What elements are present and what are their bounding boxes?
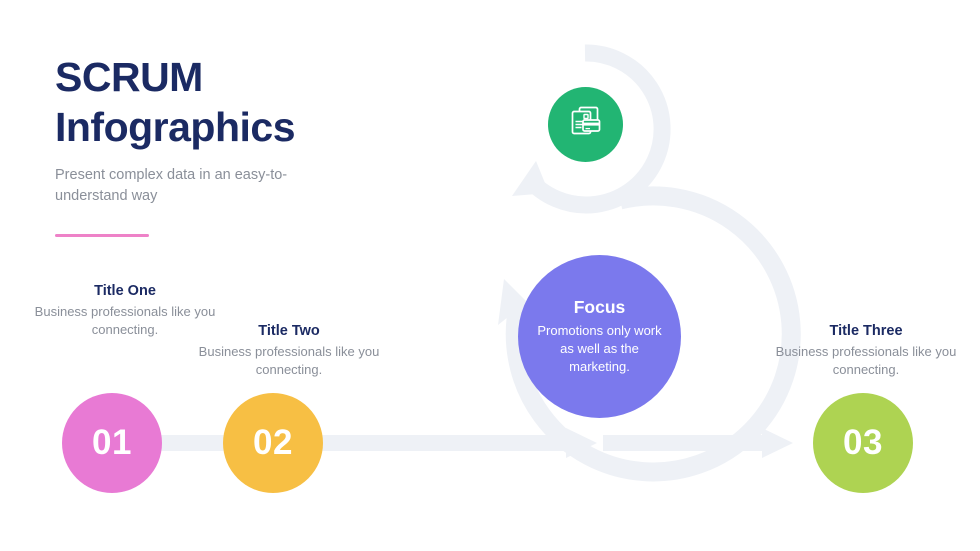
step-description-2: Business professionals like you connecti… — [192, 343, 386, 378]
focus-body: Promotions only work as well as the mark… — [534, 322, 665, 376]
slide-canvas: SCRUM Infographics Present complex data … — [0, 0, 980, 551]
icon-circle-top — [548, 87, 623, 162]
step-title-1: Title One — [30, 283, 220, 299]
step-number-circle-2[interactable]: 02 — [223, 393, 323, 493]
accent-underline — [55, 234, 149, 237]
step-text-2: Title Two Business professionals like yo… — [192, 323, 386, 378]
step-number-label-3: 03 — [843, 423, 883, 463]
step-description-3: Business professionals like you connecti… — [768, 343, 964, 378]
step-number-circle-3[interactable]: 03 — [813, 393, 913, 493]
step-number-circle-1[interactable]: 01 — [62, 393, 162, 493]
focus-circle: Focus Promotions only work as well as th… — [518, 255, 681, 418]
page-title: SCRUM Infographics — [55, 52, 385, 152]
step-number-label-1: 01 — [92, 423, 132, 463]
page-subtitle: Present complex data in an easy-to-under… — [55, 165, 305, 206]
arrow-02-to-03b — [603, 428, 793, 458]
page-title-line-2: Infographics — [55, 102, 385, 152]
page-title-line-1: SCRUM — [55, 52, 385, 102]
document-card-icon — [566, 102, 606, 147]
step-number-label-2: 02 — [253, 423, 293, 463]
title-block: SCRUM Infographics Present complex data … — [55, 52, 385, 237]
step-text-3: Title Three Business professionals like … — [768, 323, 964, 378]
focus-heading: Focus — [574, 297, 626, 318]
step-title-2: Title Two — [192, 323, 386, 339]
step-title-3: Title Three — [768, 323, 964, 339]
